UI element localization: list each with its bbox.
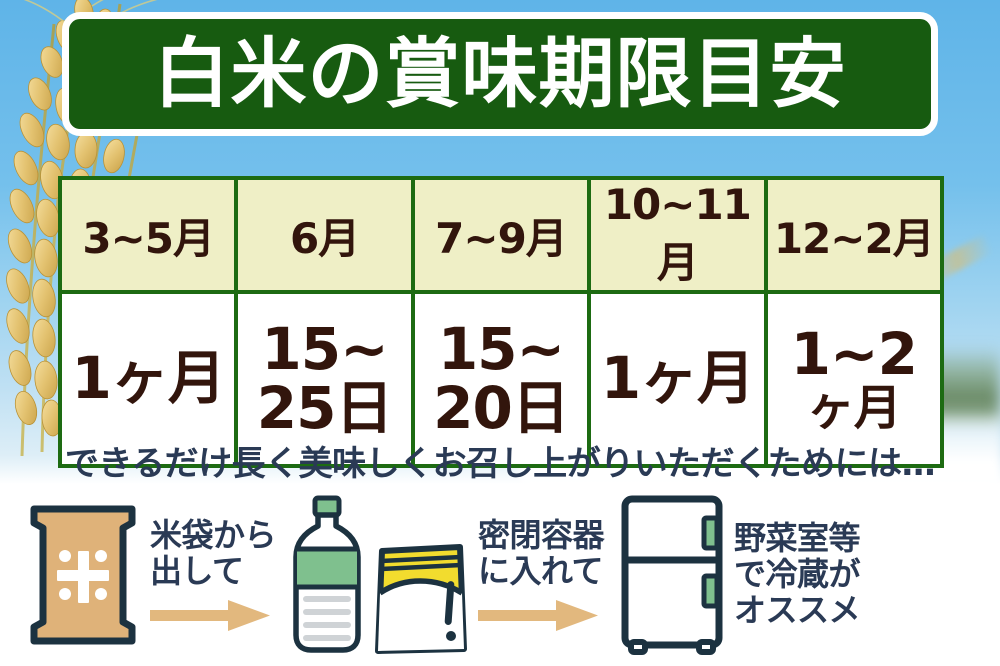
table-header-cell: 7~9月 bbox=[413, 178, 589, 292]
refrigerator-icon bbox=[618, 494, 726, 656]
title-banner: 白米の賞味期限目安 bbox=[62, 12, 938, 136]
cell-line: 25日 bbox=[238, 379, 410, 438]
shelf-life-table: 3~5月 6月 7~9月 10~11月 12~2月 1ヶ月 15~ 25日 15… bbox=[58, 176, 944, 468]
step-label-line1: 野菜室等 bbox=[734, 521, 860, 557]
rice-bag-icon bbox=[24, 499, 142, 651]
step-refrigerate: 野菜室等 で冷蔵が オススメ bbox=[618, 484, 860, 666]
cell-line: 1~2 bbox=[768, 325, 940, 384]
step-label-line2: で冷蔵が bbox=[734, 557, 860, 593]
step-text-group: 米袋から 出して bbox=[150, 518, 276, 632]
cell-line: 15~ bbox=[238, 320, 410, 379]
step-label-line1: 密閉容器 bbox=[478, 518, 604, 554]
plastic-bottle-icon bbox=[288, 495, 366, 655]
page-title: 白米の賞味期限目安 bbox=[154, 36, 847, 112]
rice-shelf-life-infographic: 白米の賞味期限目安 3~5月 6月 7~9月 10~11月 12~2月 1ヶ月 … bbox=[0, 0, 1000, 666]
step-label-line2: に入れて bbox=[478, 554, 604, 590]
cell-line: 1ヶ月 bbox=[591, 349, 763, 408]
table-header-cell: 3~5月 bbox=[60, 178, 236, 292]
step-remove-from-bag: 米袋から 出して bbox=[24, 484, 276, 666]
table-header-cell: 12~2月 bbox=[766, 178, 942, 292]
step-label-line1: 米袋から bbox=[150, 518, 276, 554]
cell-line: 20日 bbox=[415, 379, 587, 438]
step-airtight-container: 密閉容器 に入れて bbox=[288, 484, 604, 666]
step-icon-group bbox=[24, 499, 142, 651]
arrow-right-icon bbox=[150, 598, 272, 632]
zip-bag-icon bbox=[366, 541, 470, 655]
subtitle-text: できるだけ長く美味しくお召し上がりいただくためには… bbox=[0, 436, 1000, 485]
cell-line: 15~ bbox=[415, 320, 587, 379]
table-header-cell: 6月 bbox=[236, 178, 412, 292]
step-text-group: 密閉容器 に入れて bbox=[478, 518, 604, 632]
step-icon-group bbox=[618, 494, 726, 656]
step-label-line3: オススメ bbox=[734, 593, 860, 629]
step-label-line2: 出して bbox=[150, 554, 276, 590]
arrow-right-icon bbox=[478, 598, 600, 632]
storage-steps: 米袋から 出して bbox=[0, 484, 1000, 666]
table-header-row: 3~5月 6月 7~9月 10~11月 12~2月 bbox=[60, 178, 942, 292]
step-text-group: 野菜室等 で冷蔵が オススメ bbox=[734, 521, 860, 628]
cell-line: 1ヶ月 bbox=[62, 349, 234, 408]
step-icon-group bbox=[288, 495, 470, 655]
cell-line: ヶ月 bbox=[768, 384, 940, 433]
table-header-cell: 10~11月 bbox=[589, 178, 765, 292]
